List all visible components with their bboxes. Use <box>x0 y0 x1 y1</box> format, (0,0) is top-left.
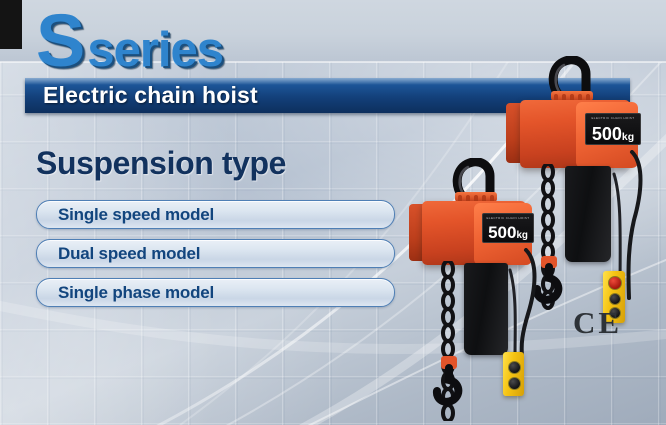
lower-load-hook <box>429 356 469 412</box>
headline-series-word: series <box>87 26 223 75</box>
model-option-single-speed[interactable]: Single speed model <box>36 200 395 229</box>
nameplate-capacity: 500kg <box>483 224 533 241</box>
nameplate-caption: ELECTRIC CHAIN HOIST <box>483 216 533 220</box>
hoist-down-button[interactable] <box>508 377 521 390</box>
hoist-up-button[interactable] <box>508 361 521 374</box>
ce-certification-mark: CE <box>573 305 622 341</box>
model-option-label: Single phase model <box>58 283 214 303</box>
capacity-unit: kg <box>516 230 528 241</box>
corner-black-block <box>0 0 22 49</box>
nameplate-capacity: 500kg <box>586 125 640 143</box>
chain-container-bag <box>464 263 508 355</box>
capacity-value: 500 <box>592 124 622 144</box>
product-title-text: Electric chain hoist <box>43 82 258 109</box>
headline-letter-s: S <box>36 4 83 78</box>
capacity-nameplate: ELECTRIC CHAIN HOIST 500kg <box>585 113 641 145</box>
capacity-unit: kg <box>622 132 634 143</box>
section-title: Suspension type <box>36 145 286 182</box>
model-option-label: Dual speed model <box>58 244 200 264</box>
capacity-nameplate: ELECTRIC CHAIN HOIST 500kg <box>482 213 534 243</box>
marketing-banner: S series Electric chain hoist Suspension… <box>0 0 666 425</box>
power-cable <box>504 248 544 358</box>
product-photo-hoist-lower: ELECTRIC CHAIN HOIST 500kg <box>400 160 580 425</box>
brand-headline: S series <box>36 4 223 78</box>
model-option-label: Single speed model <box>58 205 214 225</box>
model-option-dual-speed[interactable]: Dual speed model <box>36 239 395 268</box>
nameplate-caption: ELECTRIC CHAIN HOIST <box>586 116 640 120</box>
model-option-single-phase[interactable]: Single phase model <box>36 278 395 307</box>
emergency-stop-button[interactable] <box>608 276 622 290</box>
hoist-up-button[interactable] <box>609 293 621 305</box>
pendant-control-station[interactable] <box>503 352 524 396</box>
capacity-value: 500 <box>488 223 516 242</box>
